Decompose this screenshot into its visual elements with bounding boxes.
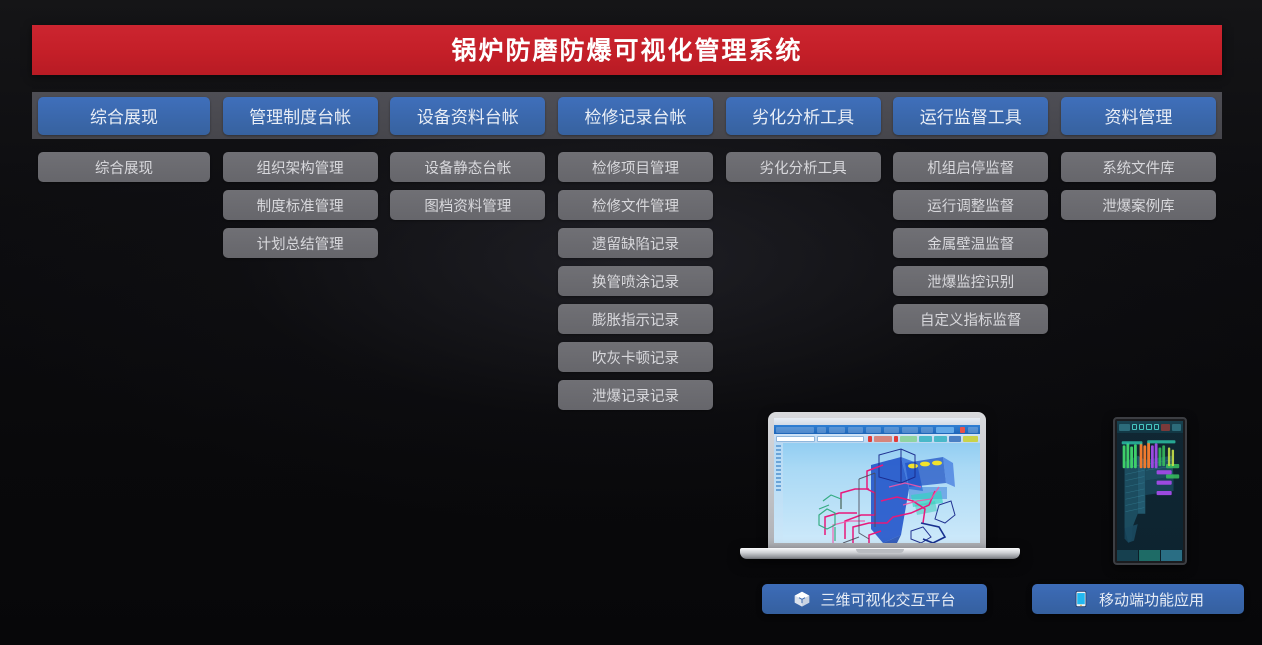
- submenu-item[interactable]: 机组启停监督: [893, 152, 1048, 182]
- nav-button-label: 劣化分析工具: [752, 103, 854, 128]
- submenu-columns: 综合展现组织架构管理制度标准管理计划总结管理设备静态台帐图档资料管理检修项目管理…: [32, 152, 1222, 410]
- laptop-sidebar-tick: [776, 485, 781, 487]
- submenu-item-label: 膨胀指示记录: [592, 309, 679, 330]
- submenu-item-label: 计划总结管理: [257, 233, 344, 254]
- mobile-bottombar-button: [1139, 550, 1161, 561]
- laptop-sidebar-tick: [776, 481, 781, 483]
- submenu-item-label: 自定义指标监督: [920, 309, 1022, 330]
- laptop-toolbar-button: [963, 436, 978, 442]
- submenu-item-label: 泄爆记录记录: [592, 385, 679, 406]
- mobile-topbar-button: [1161, 424, 1170, 431]
- submenu-column-4: 检修项目管理检修文件管理遗留缺陷记录换管喷涂记录膨胀指示记录吹灰卡顿记录泄爆记录…: [558, 152, 713, 410]
- submenu-item-label: 图档资料管理: [424, 195, 511, 216]
- submenu-item[interactable]: 检修文件管理: [558, 190, 713, 220]
- submenu-item-label: 吹灰卡顿记录: [592, 347, 679, 368]
- laptop-device-illustration: [740, 412, 1020, 562]
- submenu-item[interactable]: 劣化分析工具: [726, 152, 881, 182]
- laptop-menu-item: [921, 427, 934, 433]
- submenu-item-label: 泄爆案例库: [1102, 195, 1175, 216]
- mobile-app-bottombar: [1117, 550, 1183, 561]
- nav-button-label: 综合展现: [90, 103, 158, 128]
- submenu-item-label: 系统文件库: [1102, 157, 1175, 178]
- mobile-screen: [1117, 421, 1183, 561]
- laptop-sidebar-tick: [776, 445, 781, 447]
- nav-button-6[interactable]: 运行监督工具: [893, 97, 1048, 135]
- laptop-legend-dot-red: [894, 436, 898, 442]
- laptop-menu-item-active: [936, 427, 954, 433]
- page-title: 锅炉防磨防爆可视化管理系统: [451, 38, 802, 63]
- submenu-item[interactable]: 膨胀指示记录: [558, 304, 713, 334]
- submenu-item[interactable]: 检修项目管理: [558, 152, 713, 182]
- laptop-sidebar-tick: [776, 453, 781, 455]
- submenu-item-label: 金属壁温监督: [927, 233, 1014, 254]
- nav-button-2[interactable]: 管理制度台帐: [223, 97, 378, 135]
- submenu-item-label: 检修项目管理: [592, 157, 679, 178]
- submenu-item-label: 设备静态台帐: [424, 157, 511, 178]
- submenu-item-label: 运行调整监督: [927, 195, 1014, 216]
- laptop-toolbar-select: [776, 436, 815, 442]
- submenu-item-label: 泄爆监控识别: [927, 271, 1014, 292]
- submenu-column-2: 组织架构管理制度标准管理计划总结管理: [223, 152, 378, 410]
- nav-button-label: 运行监督工具: [920, 103, 1022, 128]
- submenu-item[interactable]: 运行调整监督: [893, 190, 1048, 220]
- submenu-column-3: 设备静态台帐图档资料管理: [390, 152, 545, 410]
- submenu-item-label: 制度标准管理: [257, 195, 344, 216]
- boiler-3d-model-laptop: [783, 443, 980, 543]
- mobile-cube-icon: [1132, 424, 1137, 430]
- laptop-sidebar-tick: [776, 449, 781, 451]
- boiler-3d-model-mobile: [1117, 433, 1183, 550]
- mobile-device-illustration: [1113, 417, 1187, 565]
- submenu-item[interactable]: 设备静态台帐: [390, 152, 545, 182]
- laptop-menu-item: [884, 427, 899, 433]
- nav-button-label: 设备资料台帐: [417, 103, 519, 128]
- nav-button-5[interactable]: 劣化分析工具: [726, 97, 881, 135]
- laptop-menu-item: [866, 427, 881, 433]
- submenu-item-label: 组织架构管理: [257, 157, 344, 178]
- laptop-app-titlebar: [774, 418, 980, 425]
- laptop-base: [740, 548, 1020, 559]
- mobile-topbar-button: [1172, 424, 1181, 431]
- submenu-item-label: 检修文件管理: [592, 195, 679, 216]
- laptop-app-toolbar: [774, 434, 980, 443]
- laptop-trackpad-notch: [856, 549, 904, 553]
- mobile-image-icon: [1154, 424, 1159, 430]
- laptop-legend-label: [874, 436, 892, 442]
- laptop-menu-logo: [776, 427, 814, 433]
- caption-3d-platform-label: 三维可视化交互平台: [820, 589, 955, 610]
- caption-3d-platform-button[interactable]: 三维可视化交互平台: [762, 584, 987, 614]
- nav-button-3[interactable]: 设备资料台帐: [390, 97, 545, 135]
- submenu-item-label: 劣化分析工具: [760, 157, 847, 178]
- laptop-toolbar-button: [934, 436, 947, 442]
- mobile-move-icon: [1146, 424, 1151, 430]
- submenu-item[interactable]: 制度标准管理: [223, 190, 378, 220]
- mobile-layers-icon: [1139, 424, 1144, 430]
- laptop-menu-item: [848, 427, 863, 433]
- submenu-item[interactable]: 系统文件库: [1061, 152, 1216, 182]
- laptop-menu-user-icon: [960, 427, 965, 433]
- laptop-toolbar-button: [949, 436, 962, 442]
- laptop-toolbar-button: [919, 436, 932, 442]
- mobile-app-logo: [1119, 424, 1130, 431]
- submenu-item[interactable]: 计划总结管理: [223, 228, 378, 258]
- laptop-legend-label: [900, 436, 918, 442]
- submenu-item[interactable]: 吹灰卡顿记录: [558, 342, 713, 372]
- laptop-screen: [774, 418, 980, 543]
- laptop-sidebar-tick: [776, 473, 781, 475]
- submenu-item-label: 遗留缺陷记录: [592, 233, 679, 254]
- submenu-item[interactable]: 自定义指标监督: [893, 304, 1048, 334]
- page-root: 锅炉防磨防爆可视化管理系统 综合展现管理制度台帐设备资料台帐检修记录台帐劣化分析…: [0, 0, 1262, 645]
- caption-mobile-app-button[interactable]: 移动端功能应用: [1032, 584, 1244, 614]
- nav-button-label: 管理制度台帐: [249, 103, 351, 128]
- submenu-column-5: 劣化分析工具: [726, 152, 881, 410]
- nav-button-7[interactable]: 资料管理: [1061, 97, 1216, 135]
- laptop-sidebar-tick: [776, 477, 781, 479]
- laptop-sidebar-tick: [776, 457, 781, 459]
- nav-button-label: 资料管理: [1104, 103, 1172, 128]
- nav-button-label: 检修记录台帐: [584, 103, 686, 128]
- submenu-item-label: 换管喷涂记录: [592, 271, 679, 292]
- app-title-banner: 锅炉防磨防爆可视化管理系统: [32, 25, 1222, 75]
- cube-3d-icon: [793, 590, 811, 608]
- laptop-sidebar-tick: [776, 461, 781, 463]
- submenu-column-7: 系统文件库泄爆案例库: [1061, 152, 1216, 410]
- mobile-bottombar-dropdown: [1117, 550, 1139, 561]
- laptop-menu-item: [829, 427, 844, 433]
- submenu-column-1: 综合展现: [38, 152, 210, 410]
- submenu-item[interactable]: 泄爆案例库: [1061, 190, 1216, 220]
- laptop-menu-item: [902, 427, 917, 433]
- laptop-menu-user-label: [968, 427, 978, 433]
- nav-button-4[interactable]: 检修记录台帐: [558, 97, 713, 135]
- laptop-sidebar-tick: [776, 489, 781, 491]
- mobile-bottombar-button: [1161, 550, 1183, 561]
- submenu-item[interactable]: 综合展现: [38, 152, 210, 182]
- submenu-item-label: 综合展现: [95, 157, 153, 178]
- laptop-app-sidebar: [774, 443, 783, 543]
- submenu-item[interactable]: 泄爆监控识别: [893, 266, 1048, 296]
- submenu-item[interactable]: 换管喷涂记录: [558, 266, 713, 296]
- submenu-item[interactable]: 遗留缺陷记录: [558, 228, 713, 258]
- nav-button-1[interactable]: 综合展现: [38, 97, 210, 135]
- mobile-phone-icon: [1072, 590, 1090, 608]
- submenu-item[interactable]: 组织架构管理: [223, 152, 378, 182]
- submenu-item[interactable]: 泄爆记录记录: [558, 380, 713, 410]
- main-nav-strip: 综合展现管理制度台帐设备资料台帐检修记录台帐劣化分析工具运行监督工具资料管理: [32, 92, 1222, 139]
- laptop-lid: [768, 412, 986, 550]
- submenu-column-6: 机组启停监督运行调整监督金属壁温监督泄爆监控识别自定义指标监督: [893, 152, 1048, 410]
- submenu-item[interactable]: 图档资料管理: [390, 190, 545, 220]
- mobile-app-topbar: [1117, 421, 1183, 433]
- laptop-toolbar-select: [817, 436, 864, 442]
- laptop-sidebar-tick: [776, 469, 781, 471]
- laptop-sidebar-tick: [776, 465, 781, 467]
- laptop-app-menubar: [774, 425, 980, 434]
- laptop-legend-dot-red: [868, 436, 872, 442]
- laptop-menu-item: [817, 427, 827, 433]
- caption-mobile-app-label: 移动端功能应用: [1099, 589, 1204, 610]
- submenu-item[interactable]: 金属壁温监督: [893, 228, 1048, 258]
- submenu-item-label: 机组启停监督: [927, 157, 1014, 178]
